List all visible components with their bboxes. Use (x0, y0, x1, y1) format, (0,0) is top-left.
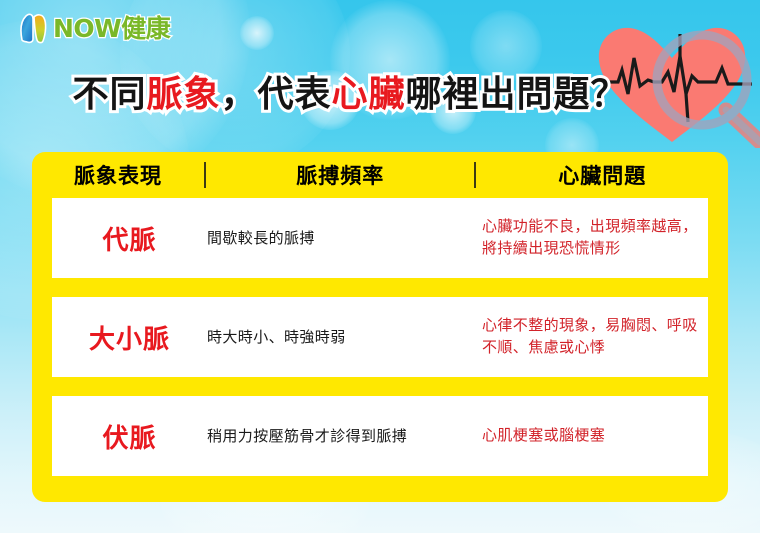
column-header-heart-issue: 心臟問題 (476, 160, 728, 190)
now-n-mark-icon (18, 12, 48, 44)
bokeh-circle (470, 10, 542, 82)
table-row: 伏脈 稍用力按壓筋骨才診得到脈搏 心肌梗塞或腦梗塞 (52, 396, 708, 476)
table-body: 代脈 間歇較長的脈搏 心臟功能不良，出現頻率越高，將持續出現恐慌情形 大小脈 時… (32, 198, 728, 476)
cell-pulse-rate: 間歇較長的脈搏 (207, 228, 482, 249)
cell-pulse-type: 代脈 (52, 220, 207, 257)
cell-pulse-type: 大小脈 (52, 319, 207, 356)
page-title: 不同脈象，代表心臟哪裡出問題？ (0, 74, 700, 115)
column-header-pulse-type: 脈象表現 (32, 160, 204, 190)
column-header-pulse-rate: 脈搏頻率 (206, 160, 474, 190)
brand-wordmark: NOW健康 (53, 16, 170, 41)
table-row: 大小脈 時大時小、時強時弱 心律不整的現象，易胸悶、呼吸不順、焦慮或心悸 (52, 297, 708, 377)
cell-heart-issue: 心律不整的現象，易胸悶、呼吸不順、焦慮或心悸 (482, 315, 708, 359)
bokeh-circle (240, 16, 274, 50)
cell-pulse-rate: 時大時小、時強時弱 (207, 327, 482, 348)
cell-pulse-rate: 稍用力按壓筋骨才診得到脈搏 (207, 426, 482, 447)
infographic-poster: NOW健康 不同脈象，代表心臟哪裡出問題？ 脈象表現 脈搏頻率 心臟問題 代脈 … (0, 0, 760, 533)
title-segment-2: ，代表 (220, 74, 331, 115)
title-segment-0: 不同 (72, 74, 146, 115)
cell-heart-issue: 心肌梗塞或腦梗塞 (482, 425, 708, 447)
table-header-row: 脈象表現 脈搏頻率 心臟問題 (32, 152, 728, 198)
table-row: 代脈 間歇較長的脈搏 心臟功能不良，出現頻率越高，將持續出現恐慌情形 (52, 198, 708, 278)
cell-heart-issue: 心臟功能不良，出現頻率越高，將持續出現恐慌情形 (482, 216, 708, 260)
brand-logo[interactable]: NOW健康 (18, 11, 170, 45)
title-segment-3: 心臟 (332, 74, 406, 115)
title-segment-1: 脈象 (146, 74, 220, 115)
cell-pulse-type: 伏脈 (52, 418, 207, 455)
pulse-table-panel: 脈象表現 脈搏頻率 心臟問題 代脈 間歇較長的脈搏 心臟功能不良，出現頻率越高，… (32, 152, 728, 502)
title-segment-4: 哪裡出問題？ (406, 74, 628, 115)
